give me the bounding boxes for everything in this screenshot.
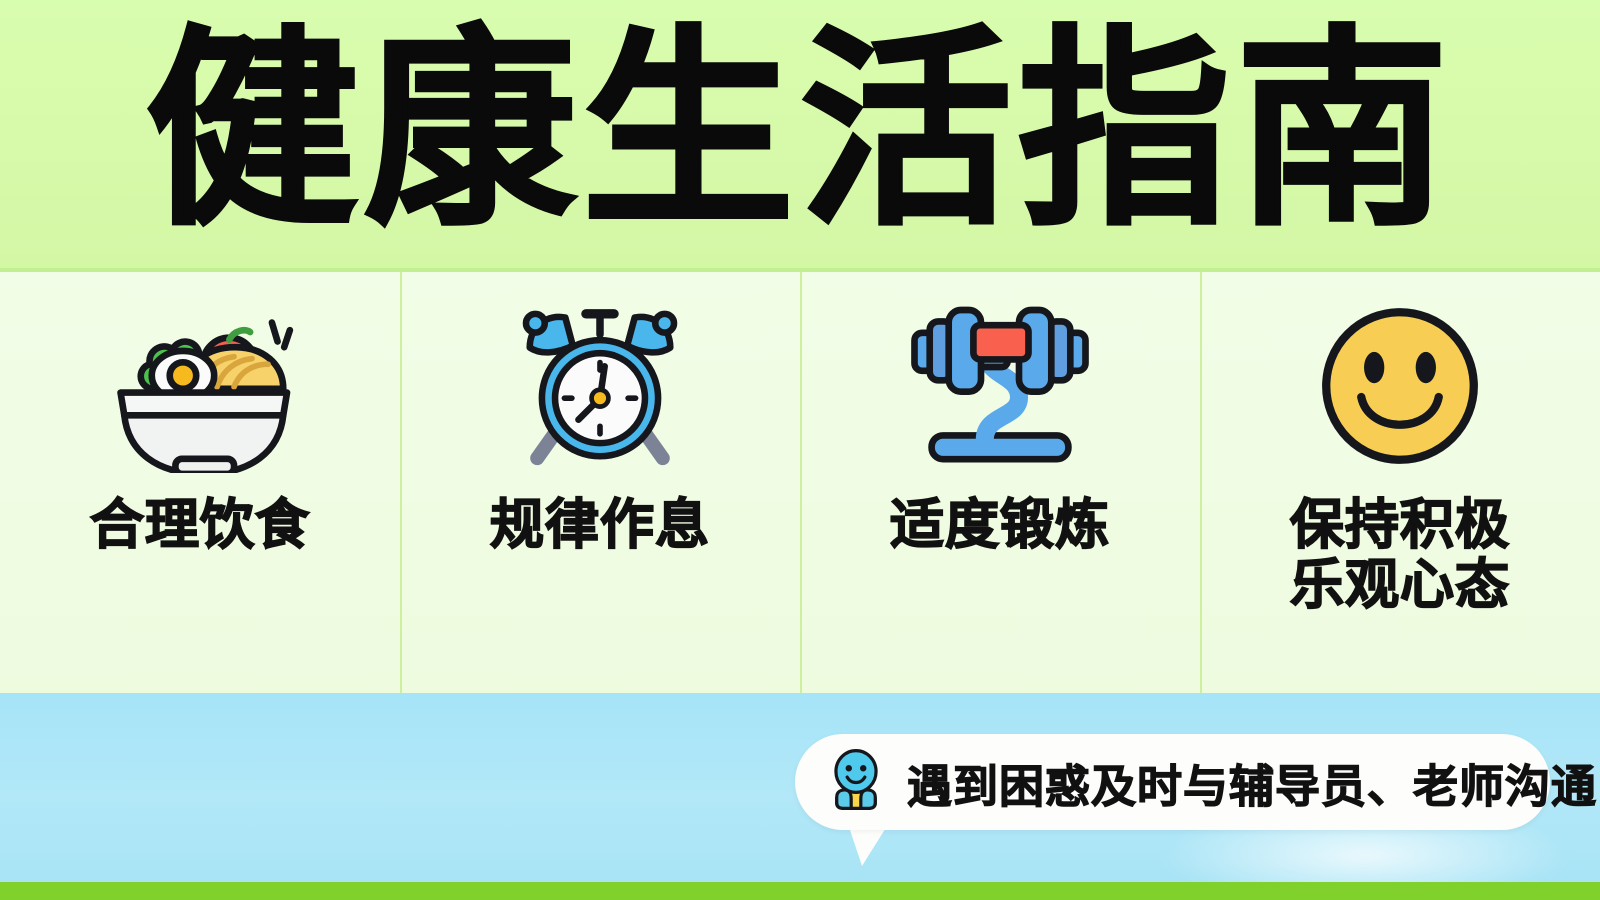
- tip-card-label: 保持积极 乐观心态: [1290, 495, 1510, 616]
- poster-root: 健康生活指南: [0, 0, 1600, 900]
- tip-card-label-line2: 乐观心态: [1290, 555, 1510, 615]
- tip-card-label-line1: 保持积极: [1290, 495, 1510, 555]
- food-bowl-icon: [105, 298, 295, 473]
- tip-card-label-line1: 合理饮食: [90, 495, 310, 555]
- mascot-icon: [827, 749, 885, 815]
- footer-green-band: [0, 882, 1600, 900]
- tip-card-mindset[interactable]: 保持积极 乐观心态: [1200, 272, 1600, 693]
- speech-bubble[interactable]: 遇到困惑及时与辅导员、老师沟通: [795, 734, 1550, 830]
- smiley-face-icon: [1305, 298, 1495, 473]
- page-title: 健康生活指南: [146, 25, 1454, 237]
- tip-card-sleep[interactable]: 规律作息: [400, 272, 800, 693]
- tip-card-exercise[interactable]: 适度锻炼: [800, 272, 1200, 693]
- tip-card-label-line1: 适度锻炼: [890, 495, 1110, 555]
- dumbbell-stand-icon: [905, 298, 1095, 473]
- alarm-clock-icon: [505, 298, 695, 473]
- tip-card-label: 适度锻炼: [890, 495, 1110, 555]
- header-banner: 健康生活指南: [0, 0, 1600, 270]
- tips-card-strip: 合理饮食: [0, 272, 1600, 693]
- tip-card-label: 合理饮食: [90, 495, 310, 555]
- tip-card-label: 规律作息: [490, 495, 710, 555]
- tip-card-diet[interactable]: 合理饮食: [0, 272, 400, 693]
- tip-card-label-line1: 规律作息: [490, 495, 710, 555]
- speech-bubble-text: 遇到困惑及时与辅导员、老师沟通: [907, 750, 1597, 815]
